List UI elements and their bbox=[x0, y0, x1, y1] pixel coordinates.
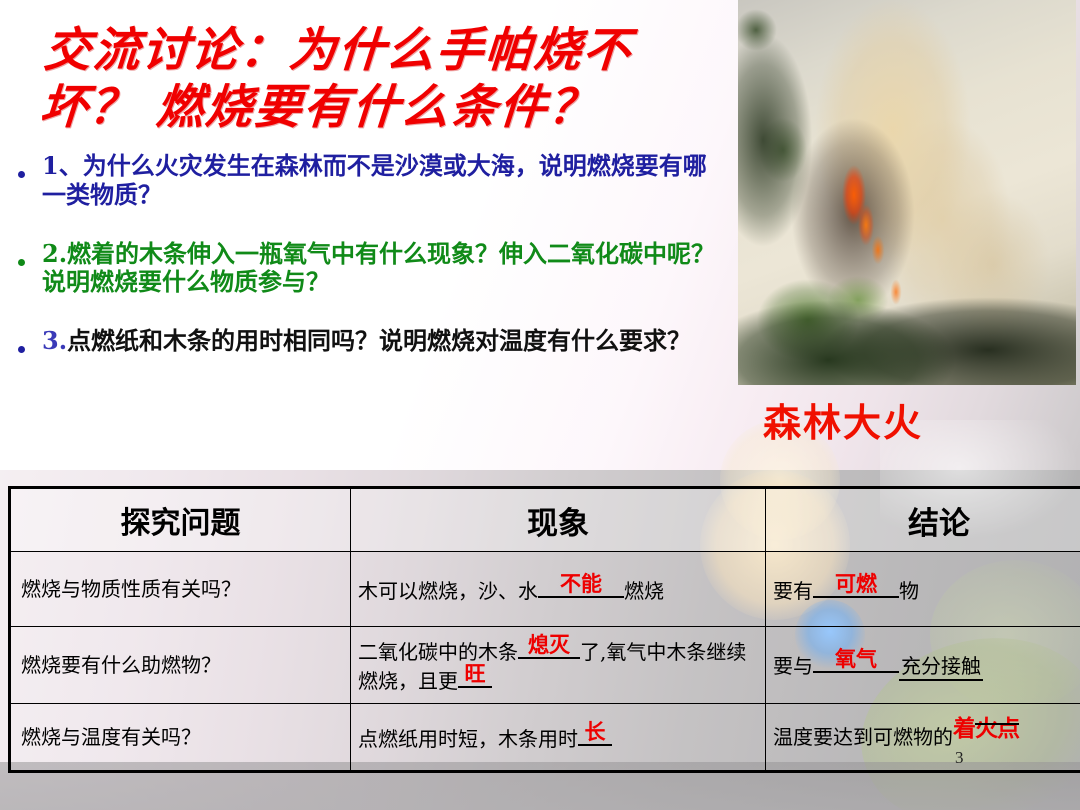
list-item: 3.点燃纸和木条的用时相同吗？说明燃烧对温度有什么要求？ bbox=[0, 327, 730, 357]
row2-conclusion-post: 充分接触 bbox=[899, 654, 983, 681]
bullet-dot-icon bbox=[0, 152, 42, 182]
row3-phenomenon: 点燃纸用时短，木条用时长 bbox=[351, 704, 766, 772]
table-body: 燃烧与物质性质有关吗？ 木可以燃烧，沙、水不能燃烧 要有可燃物 燃烧要有什么助燃… bbox=[10, 552, 1080, 772]
row2-conclusion: 要与氧气充分接触 bbox=[766, 627, 1080, 704]
discussion-question-list: 1、为什么火灾发生在森林而不是沙漠或大海，说明燃烧要有哪一类物质？ 2.燃着的木… bbox=[0, 152, 730, 357]
row1-phenomenon-post: 燃烧 bbox=[624, 579, 664, 603]
table-row: 燃烧与温度有关吗？ 点燃纸用时短，木条用时长 温度要达到可燃物的着火点 bbox=[10, 704, 1080, 772]
slide-title: 交流讨论：为什么手帕烧不坏？ 燃烧要有什么条件？ bbox=[38, 22, 726, 137]
row3-conclusion-answer: 着火点 bbox=[953, 715, 1019, 742]
table-header-row: 探究问题 现象 结论 bbox=[10, 488, 1080, 552]
question-3-number: 3. bbox=[42, 326, 67, 355]
row2-conclusion-pre: 要与 bbox=[773, 654, 813, 678]
row1-question: 燃烧与物质性质有关吗？ bbox=[10, 552, 351, 627]
table-row: 燃烧与物质性质有关吗？ 木可以燃烧，沙、水不能燃烧 要有可燃物 bbox=[10, 552, 1080, 627]
forest-fire-image bbox=[738, 0, 1076, 385]
row2-conclusion-blank: 氧气 bbox=[813, 650, 899, 673]
list-item: 1、为什么火灾发生在森林而不是沙漠或大海，说明燃烧要有哪一类物质？ bbox=[0, 152, 730, 210]
row2-phenomenon-blank-2: 旺 bbox=[458, 665, 492, 688]
row1-conclusion-answer: 可燃 bbox=[835, 573, 877, 594]
row1-phenomenon: 木可以燃烧，沙、水不能燃烧 bbox=[351, 552, 766, 627]
list-item: 2.燃着的木条伸入一瓶氧气中有什么现象？伸入二氧化碳中呢？说明燃烧要什么物质参与… bbox=[0, 240, 730, 298]
photo-caption: 森林大火 bbox=[763, 403, 1063, 445]
investigation-table: 探究问题 现象 结论 燃烧与物质性质有关吗？ 木可以燃烧，沙、水不能燃烧 要有可… bbox=[8, 486, 1080, 773]
row2-phenomenon-pre: 二氧化碳中的木条 bbox=[358, 640, 518, 664]
row2-phenomenon: 二氧化碳中的木条熄灭了,氧气中木条继续燃烧，且更旺 bbox=[351, 627, 766, 704]
row2-question: 燃烧要有什么助燃物？ bbox=[10, 627, 351, 704]
question-3-text: 3.点燃纸和木条的用时相同吗？说明燃烧对温度有什么要求？ bbox=[42, 327, 730, 356]
row2-phenomenon-answer-2: 旺 bbox=[465, 663, 486, 684]
row2-phenomenon-blank: 熄灭 bbox=[518, 636, 580, 659]
header-phenomenon: 现象 bbox=[351, 488, 766, 552]
row1-phenomenon-blank: 不能 bbox=[538, 575, 624, 598]
row2-conclusion-answer: 氧气 bbox=[835, 648, 877, 669]
slide-canvas: 交流讨论：为什么手帕烧不坏？ 燃烧要有什么条件？ 1、为什么火灾发生在森林而不是… bbox=[0, 0, 1080, 810]
row2-phenomenon-answer: 熄灭 bbox=[528, 634, 570, 655]
row3-conclusion-blank bbox=[975, 723, 1019, 725]
row3-conclusion-pre: 温度要达到可燃物的 bbox=[773, 725, 953, 749]
header-conclusion: 结论 bbox=[766, 488, 1080, 552]
table-header: 探究问题 现象 结论 bbox=[10, 488, 1080, 552]
row3-question: 燃烧与温度有关吗？ bbox=[10, 704, 351, 772]
question-2-text: 2.燃着的木条伸入一瓶氧气中有什么现象？伸入二氧化碳中呢？说明燃烧要什么物质参与… bbox=[42, 240, 730, 298]
page-number: 3 bbox=[955, 748, 964, 768]
forest-fire-photo bbox=[738, 0, 1076, 385]
row1-phenomenon-pre: 木可以燃烧，沙、水 bbox=[358, 579, 538, 603]
bullet-dot-icon bbox=[0, 240, 42, 270]
row3-phenomenon-answer: 长 bbox=[585, 721, 606, 742]
row1-phenomenon-answer: 不能 bbox=[560, 573, 602, 594]
question-3-body: 点燃纸和木条的用时相同吗？说明燃烧对温度有什么要求？ bbox=[67, 326, 691, 355]
bullet-dot-icon bbox=[0, 327, 42, 357]
row1-conclusion-post: 物 bbox=[899, 579, 919, 603]
question-1-text: 1、为什么火灾发生在森林而不是沙漠或大海，说明燃烧要有哪一类物质？ bbox=[42, 152, 730, 210]
row1-conclusion-blank: 可燃 bbox=[813, 575, 899, 598]
row1-conclusion: 要有可燃物 bbox=[766, 552, 1080, 627]
row3-phenomenon-pre: 点燃纸用时短，木条用时 bbox=[358, 727, 578, 751]
row3-conclusion: 温度要达到可燃物的着火点 bbox=[766, 704, 1080, 772]
row3-phenomenon-blank: 长 bbox=[578, 723, 612, 746]
table-row: 燃烧要有什么助燃物？ 二氧化碳中的木条熄灭了,氧气中木条继续燃烧，且更旺 要与氧… bbox=[10, 627, 1080, 704]
header-question: 探究问题 bbox=[10, 488, 351, 552]
row1-conclusion-pre: 要有 bbox=[773, 579, 813, 603]
